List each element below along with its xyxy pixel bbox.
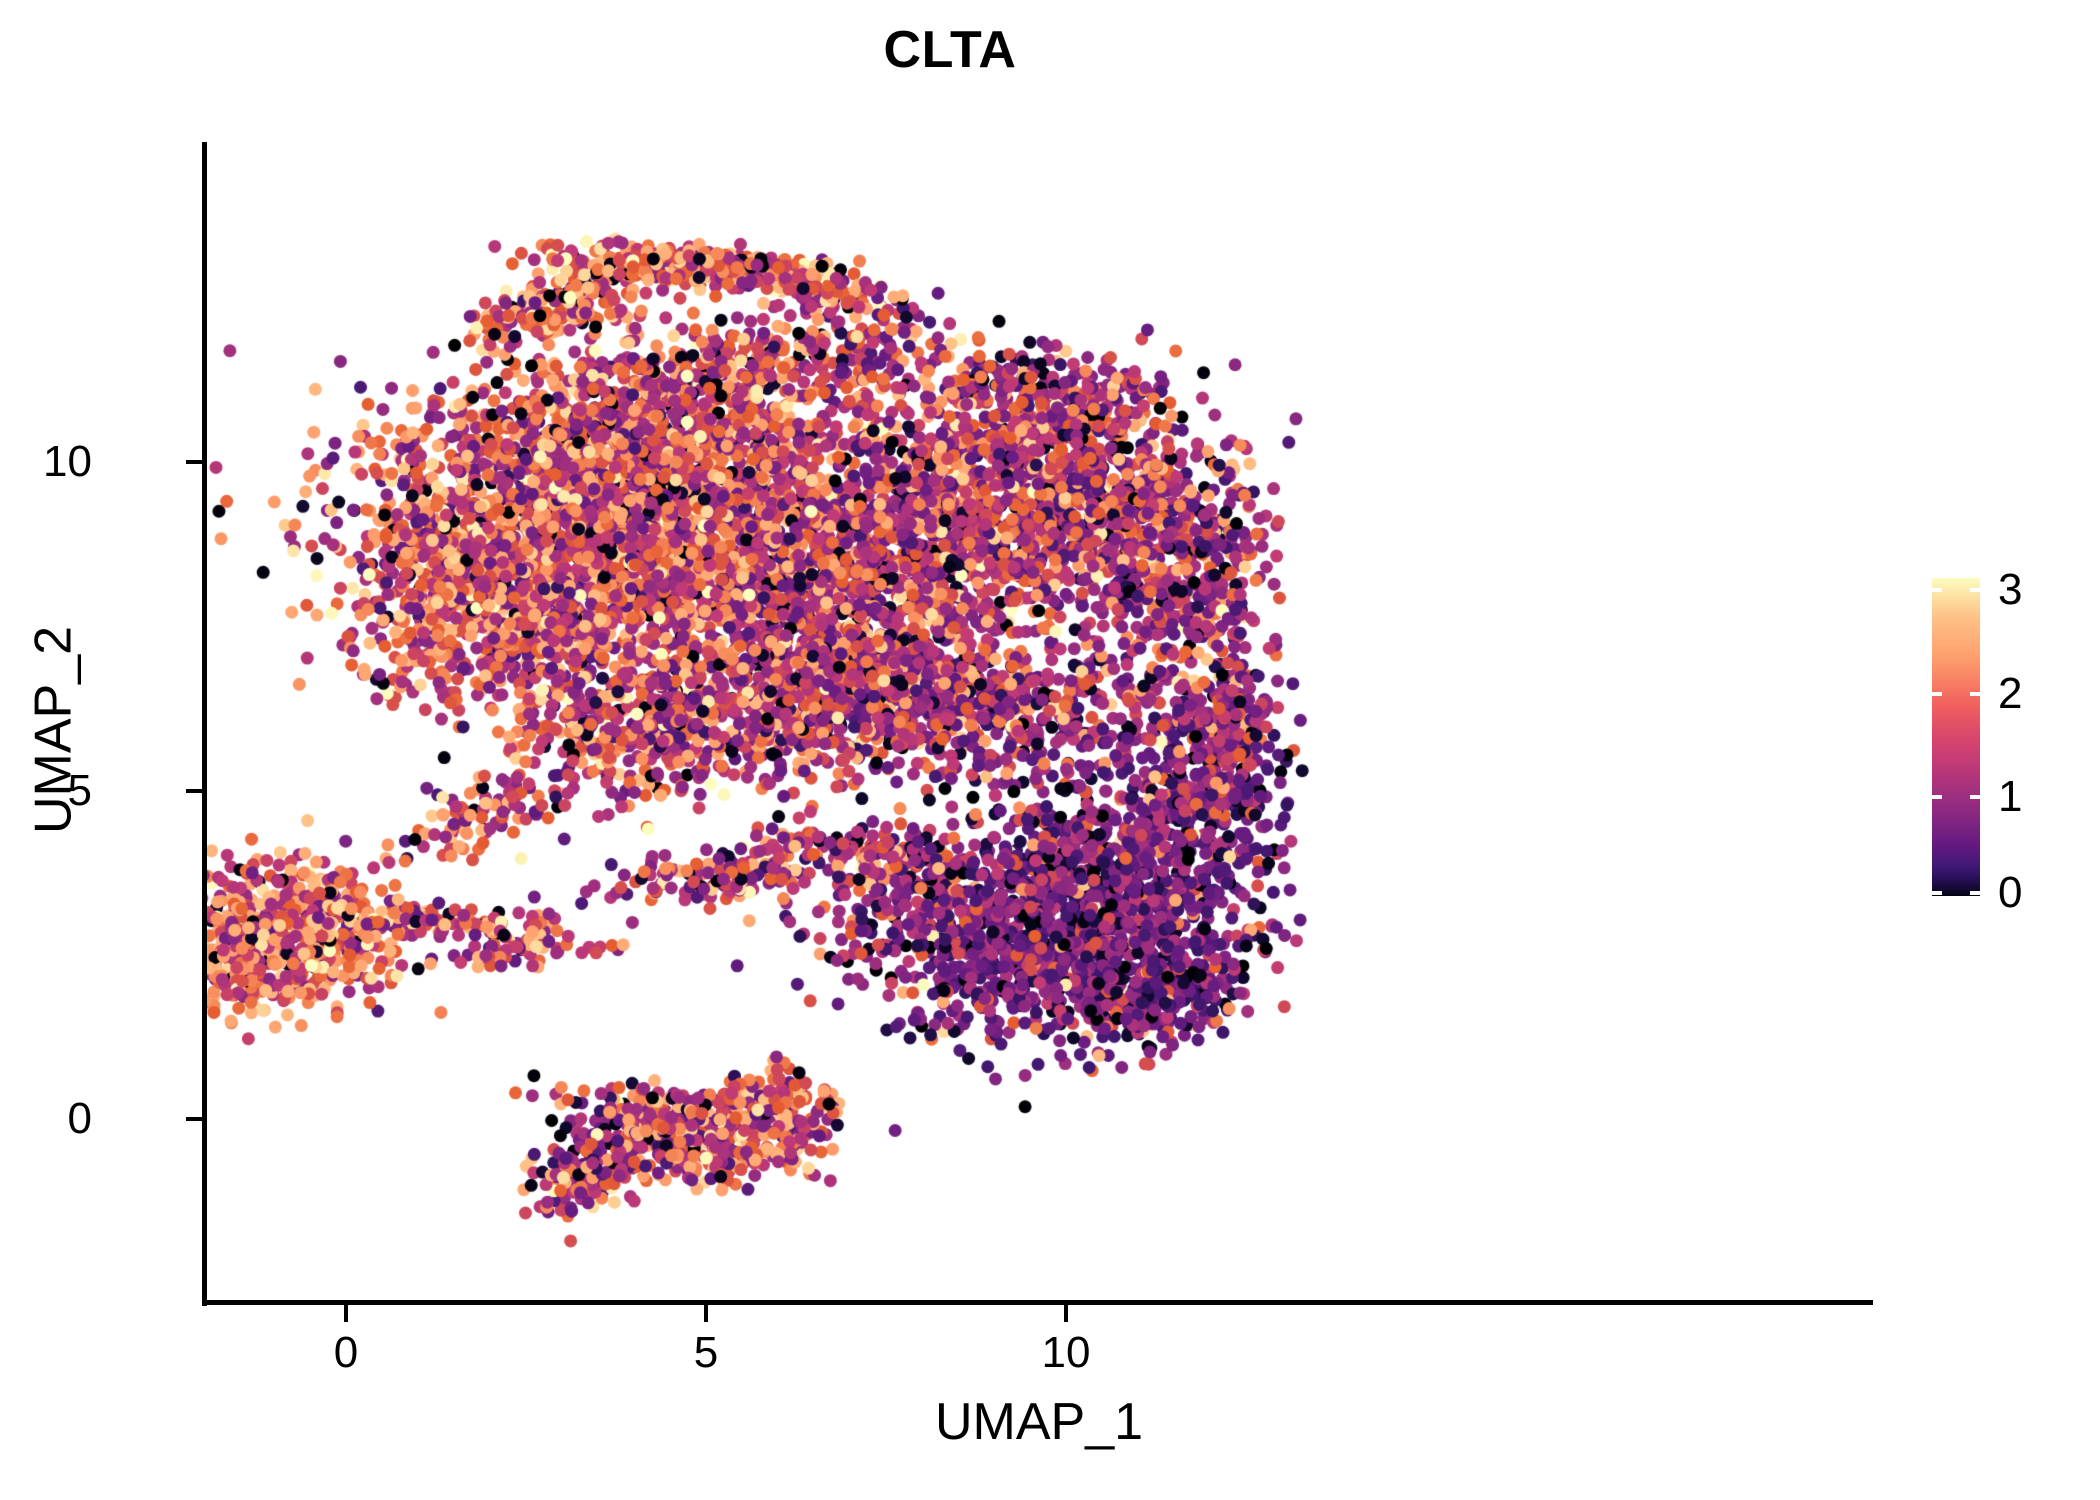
y-tick-mark-10 (186, 460, 203, 464)
x-tick-mark-10 (1064, 1305, 1068, 1322)
scatter-plot-canvas (205, 142, 1873, 1303)
plot-panel (205, 142, 1873, 1303)
x-tick-label-0: 0 (334, 1328, 358, 1378)
colorbar-tick-0-right (1970, 891, 1980, 895)
colorbar-tick-0-left (1932, 891, 1942, 895)
y-tick-mark-5 (186, 789, 203, 793)
x-tick-label-10: 10 (1042, 1328, 1091, 1378)
colorbar-label-0: 0 (1998, 868, 2022, 918)
colorbar-label-1: 1 (1998, 772, 2022, 822)
colorbar-label-3: 3 (1998, 565, 2022, 615)
umap-feature-plot: CLTA 10 5 0 0 5 10 UMAP_1 UMAP_2 3 2 1 0 (0, 0, 2100, 1500)
y-axis-title: UMAP_2 (24, 150, 84, 1311)
x-tick-mark-5 (704, 1305, 708, 1322)
colorbar-gradient (1932, 578, 1980, 896)
colorbar-tick-1-left (1932, 795, 1942, 799)
y-axis-line (202, 142, 207, 1306)
colorbar-tick-2-right (1970, 692, 1980, 696)
x-tick-mark-0 (344, 1305, 348, 1322)
x-tick-label-5: 5 (694, 1328, 718, 1378)
colorbar-tick-1-right (1970, 795, 1980, 799)
colorbar-tick-2-left (1932, 692, 1942, 696)
x-axis-line (202, 1300, 1873, 1305)
color-legend: 3 2 1 0 (1932, 578, 2082, 898)
page-title: CLTA (0, 20, 1900, 80)
x-axis-title: UMAP_1 (205, 1392, 1873, 1452)
colorbar-tick-3-left (1932, 588, 1942, 592)
colorbar-label-2: 2 (1998, 669, 2022, 719)
y-tick-mark-0 (186, 1117, 203, 1121)
colorbar-tick-3-right (1970, 588, 1980, 592)
